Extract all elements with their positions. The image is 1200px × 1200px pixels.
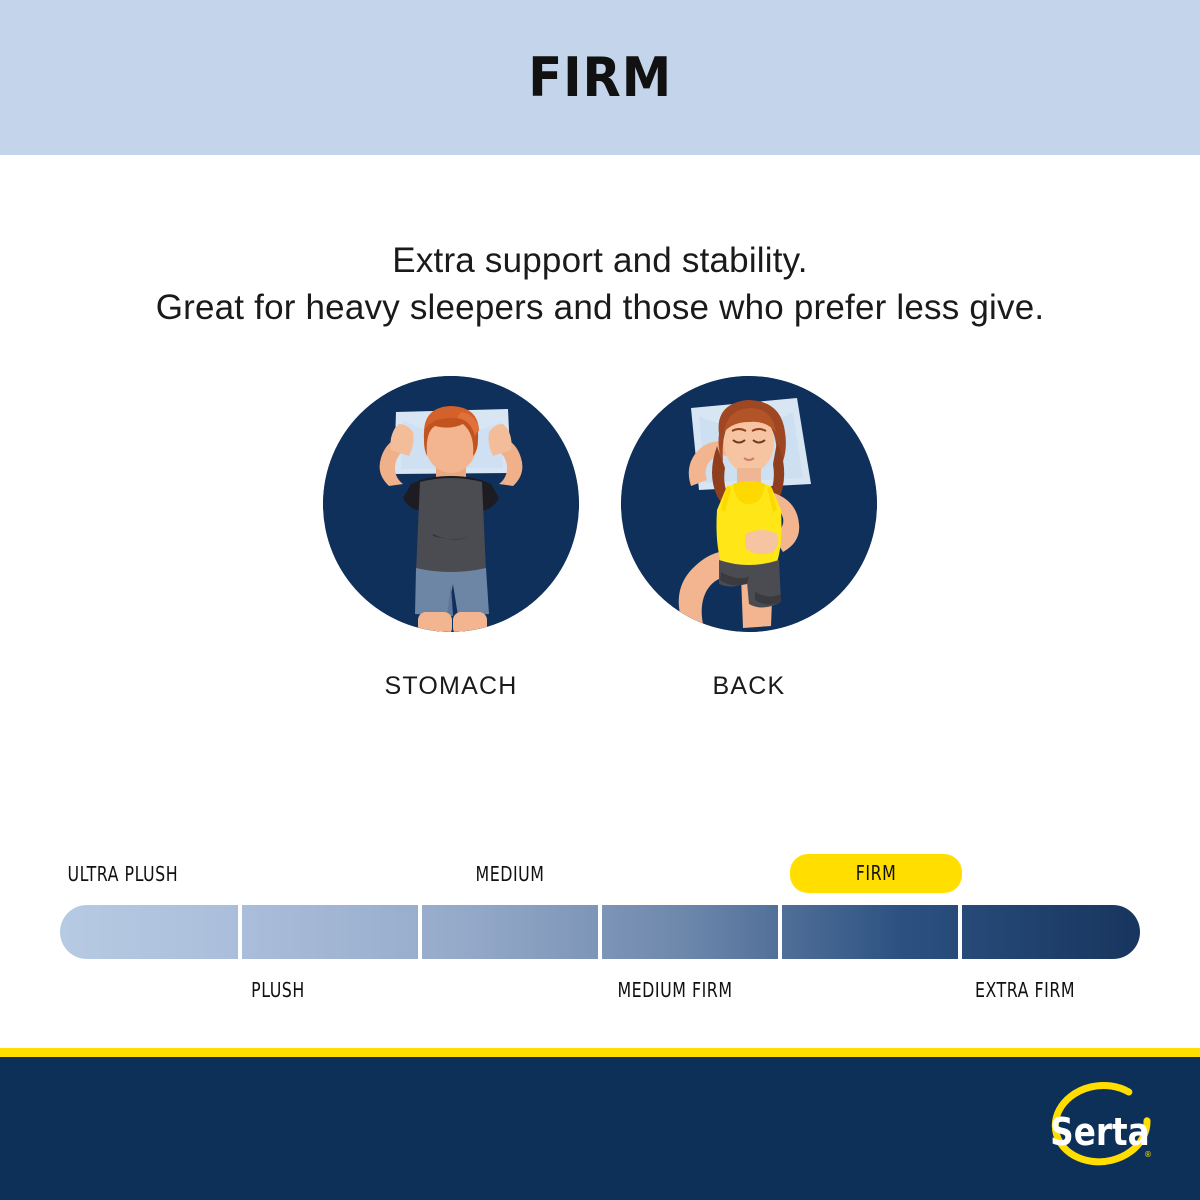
firmness-scale: ULTRA PLUSH MEDIUM FIRM PLUSH MEDIUM FIR… [60, 862, 1140, 1012]
firmness-segment-firm[interactable] [782, 905, 958, 959]
firmness-scale-bar [60, 905, 1140, 959]
firmness-label-firm-selected[interactable]: FIRM [790, 854, 962, 893]
firmness-scale-labels-above: ULTRA PLUSH MEDIUM FIRM [60, 862, 1140, 896]
sleep-position-label-back: BACK [713, 672, 786, 701]
subtitle: Extra support and stability. Great for h… [0, 237, 1200, 332]
page-title: FIRM [528, 51, 672, 105]
serta-logo-icon: Serta ® [1044, 1081, 1162, 1181]
firmness-scale-labels-below: PLUSH MEDIUM FIRM EXTRA FIRM [60, 974, 1140, 1008]
sleep-position-back: BACK [621, 376, 877, 701]
firmness-label-ultra-plush[interactable]: ULTRA PLUSH [68, 862, 179, 886]
stomach-sleeper-illustration [323, 376, 579, 632]
sleep-position-group: STOMACH [0, 376, 1200, 701]
firmness-label-extra-firm[interactable]: EXTRA FIRM [946, 978, 1104, 1002]
firmness-segment-plush[interactable] [242, 905, 418, 959]
firmness-label-medium[interactable]: MEDIUM [431, 862, 589, 886]
subtitle-line-2: Great for heavy sleepers and those who p… [0, 284, 1200, 331]
serta-logo-text: Serta [1050, 1111, 1149, 1155]
sleep-position-label-stomach: STOMACH [385, 672, 518, 701]
footer-accent-stripe [0, 1048, 1200, 1057]
serta-logo[interactable]: Serta ® [1044, 1081, 1162, 1181]
stomach-sleeper-icon [323, 376, 579, 632]
firmness-segment-medium-firm[interactable] [602, 905, 778, 959]
page-header: FIRM [0, 0, 1200, 155]
subtitle-line-1: Extra support and stability. [0, 237, 1200, 284]
firmness-segment-ultra-plush[interactable] [60, 905, 238, 959]
back-sleeper-illustration [621, 376, 877, 632]
sleep-position-stomach: STOMACH [323, 376, 579, 701]
firmness-segment-extra-firm[interactable] [962, 905, 1140, 959]
firmness-label-plush[interactable]: PLUSH [199, 978, 357, 1002]
firmness-label-medium-firm[interactable]: MEDIUM FIRM [596, 978, 754, 1002]
firmness-segment-medium[interactable] [422, 905, 598, 959]
firmness-label-firm-text: FIRM [856, 861, 897, 885]
back-sleeper-icon [621, 376, 877, 632]
page-footer: Serta ® [0, 1057, 1200, 1200]
serta-logo-trademark: ® [1144, 1150, 1152, 1159]
